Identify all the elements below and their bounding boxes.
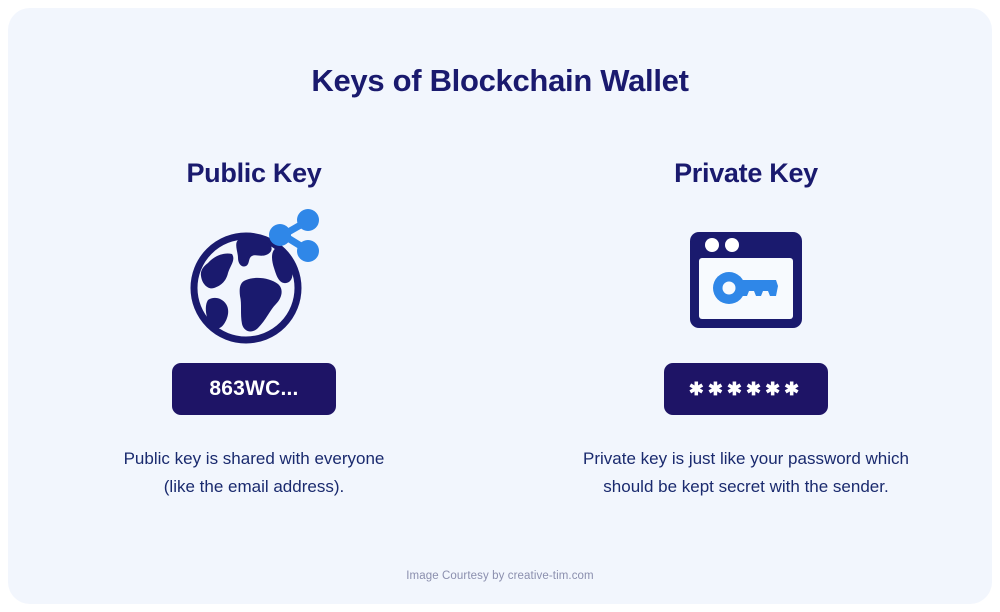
public-key-column: Public Key (8, 153, 500, 501)
private-key-caption-line-2: should be kept secret with the sender. (583, 473, 909, 501)
window-dot-2 (725, 238, 739, 252)
browser-window-key-icon-svg (684, 216, 808, 340)
public-key-caption-line-2: (like the email address). (124, 473, 385, 501)
infographic-card: Keys of Blockchain Wallet Public Key (8, 8, 992, 604)
private-key-heading: Private Key (674, 153, 818, 193)
private-key-caption: Private key is just like your password w… (583, 445, 909, 501)
public-key-caption-line-1: Public key is shared with everyone (124, 445, 385, 473)
globe-share-icon (184, 193, 324, 363)
private-key-column: Private Key (500, 153, 992, 501)
private-key-badge[interactable]: ✱✱✱✱✱✱ (664, 363, 828, 415)
browser-window-key-icon (684, 193, 808, 363)
footer-credit: Image Courtesy by creative-tim.com (8, 570, 992, 582)
key-comparison-columns: Public Key (8, 153, 992, 501)
page-title: Keys of Blockchain Wallet (8, 63, 992, 99)
public-key-caption: Public key is shared with everyone (like… (124, 445, 385, 501)
window-dot-1 (705, 238, 719, 252)
public-key-badge[interactable]: 863WC... (172, 363, 336, 415)
globe-share-icon-svg (184, 208, 324, 348)
private-key-caption-line-1: Private key is just like your password w… (583, 445, 909, 473)
public-key-heading: Public Key (186, 153, 321, 193)
